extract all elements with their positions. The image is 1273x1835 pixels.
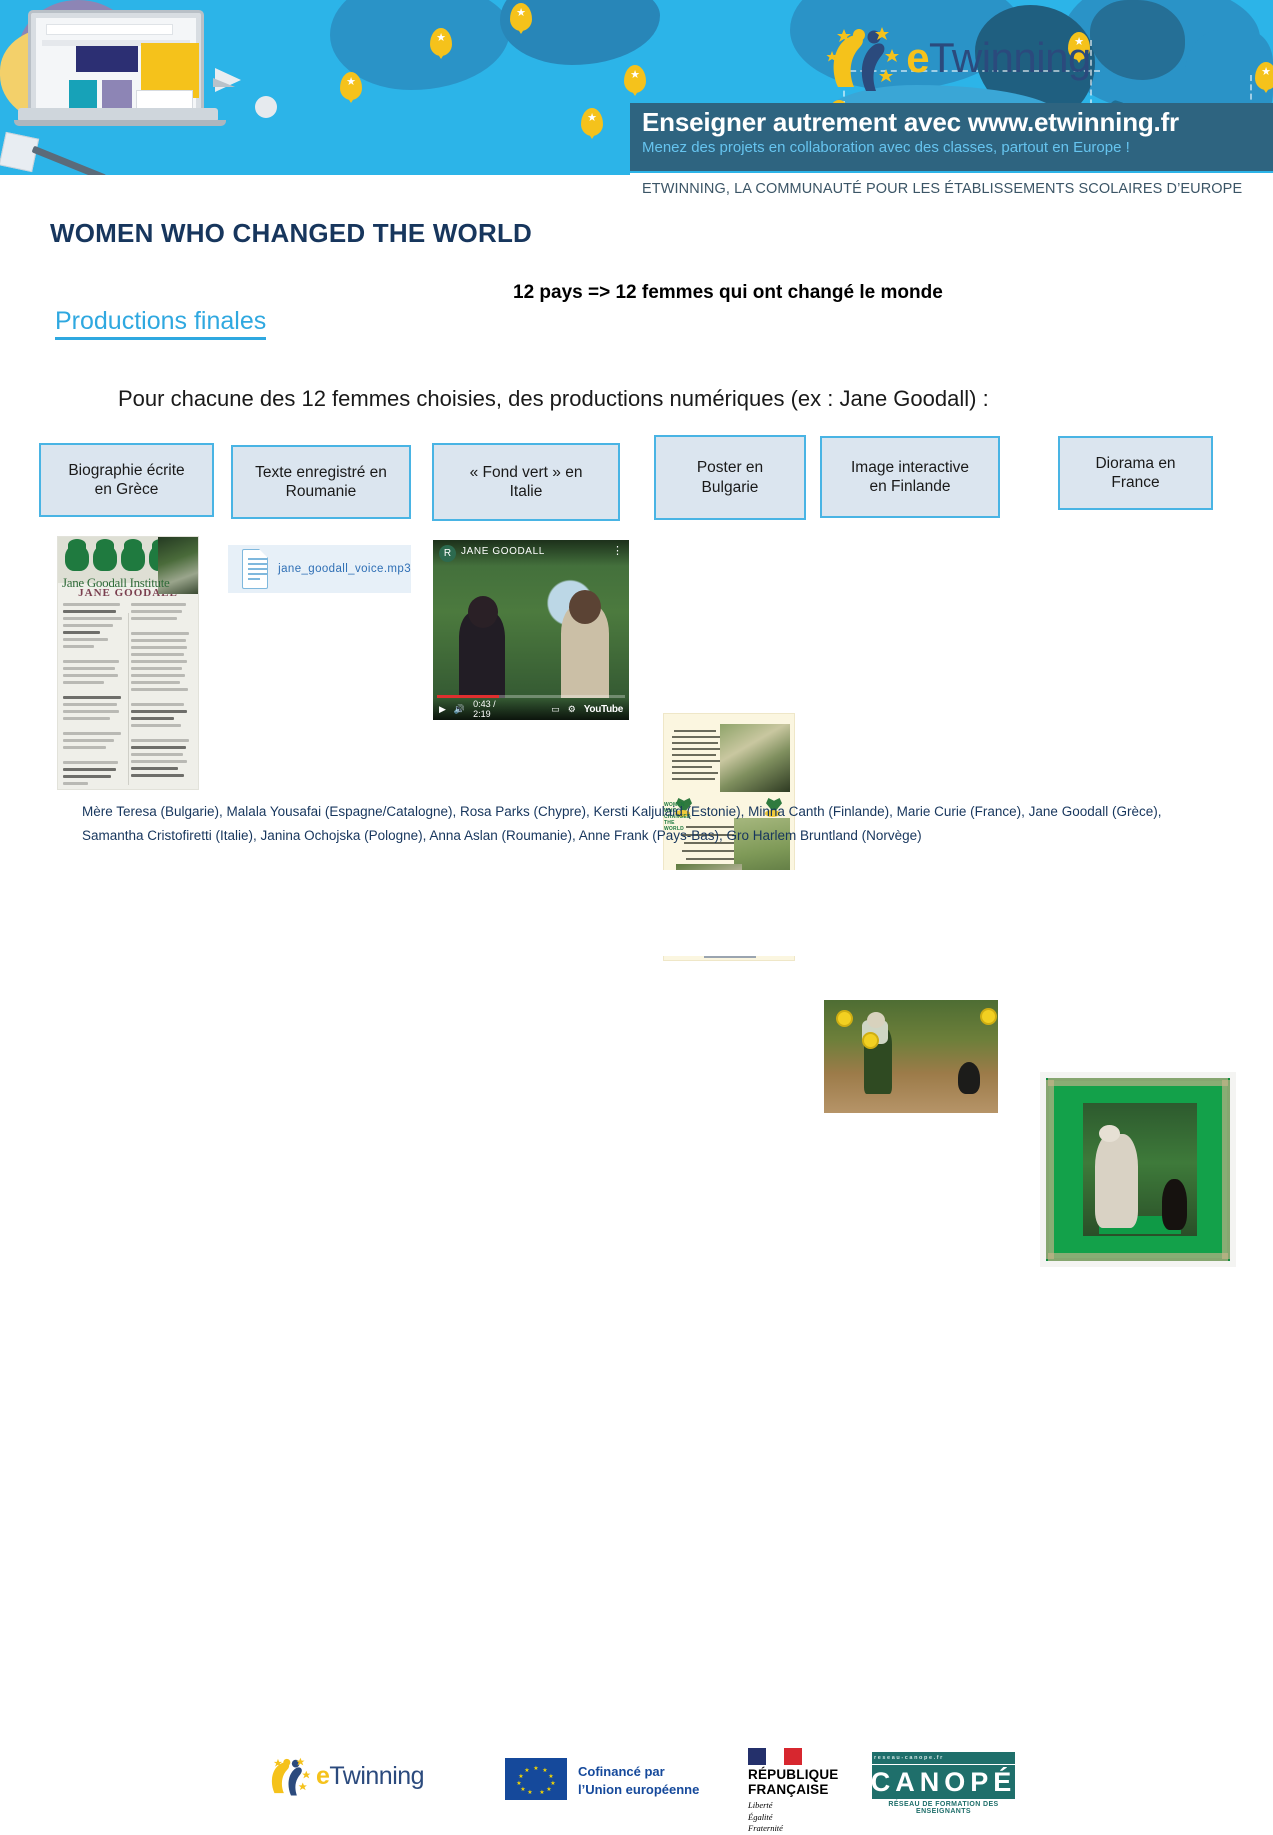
- poster-text-line: [672, 772, 718, 774]
- rf-motto: Liberté Égalité Fraternité: [748, 1800, 839, 1834]
- banner-headline: Enseigner autrement avec www.etwinning.f…: [630, 103, 1273, 138]
- production-label-romania: Texte enregistré en Roumanie: [255, 463, 387, 502]
- video-title: JANE GOODALL: [461, 546, 545, 557]
- production-label-france: Diorama en France: [1095, 454, 1175, 493]
- svg-text:★: ★: [546, 1786, 551, 1793]
- etwinning-wordmark-e-footer: e: [316, 1762, 329, 1790]
- slide-subtitle: 12 pays => 12 femmes qui ont changé le m…: [513, 282, 943, 304]
- diorama-tape-top: [1048, 1078, 1228, 1086]
- header-banner: Enseigner autrement avec www.etwinning.f…: [630, 103, 1273, 171]
- rf-line-1: RÉPUBLIQUE: [748, 1768, 839, 1783]
- production-box-france[interactable]: Diorama en France: [1058, 436, 1213, 510]
- production-label-bulgaria: Poster en Bulgarie: [697, 458, 763, 497]
- svg-text:★: ★: [516, 1780, 521, 1787]
- video-channel-avatar[interactable]: R: [439, 545, 456, 562]
- paper-plane-shadow: [213, 78, 235, 87]
- svg-text:★: ★: [533, 1765, 538, 1772]
- rf-line-2: FRANÇAISE: [748, 1783, 839, 1798]
- svg-text:★: ★: [548, 1773, 553, 1780]
- canope-url-bar: reseau-canope.fr: [872, 1752, 1015, 1764]
- poster-text-line: [672, 736, 720, 738]
- production-box-finland[interactable]: Image interactive en Finlande: [820, 436, 1000, 518]
- page-footer: eTwinning ★ ★ ★ ★ ★ ★ ★ ★ ★ ★ ★ Cofinanc…: [0, 870, 1273, 956]
- etwinning-mark-icon: [822, 21, 900, 95]
- diorama-tape-left: [1046, 1080, 1054, 1259]
- hotspot-marker-3[interactable]: [980, 1008, 997, 1025]
- poster-text-line: [674, 730, 716, 732]
- footer-etwinning-logo: eTwinning: [265, 1754, 424, 1798]
- poster-text-line: [672, 742, 718, 744]
- institute-name: Jane Goodall Institute: [62, 575, 170, 591]
- production-box-italy[interactable]: « Fond vert » en Italie: [432, 443, 620, 521]
- republique-francaise-logo: RÉPUBLIQUE FRANÇAISE Liberté Égalité Fra…: [748, 1748, 839, 1835]
- interactive-person-head: [867, 1012, 885, 1028]
- thumbnail-interactive-image[interactable]: [824, 1000, 998, 1113]
- interactive-chimpanzee: [958, 1062, 980, 1094]
- mock-address-bar: [46, 24, 173, 35]
- thumbnail-audio-file[interactable]: jane_goodall_voice.mp3: [228, 545, 411, 593]
- page-header: ★ ★ ★ ★ ★ ★ ★ ★: [0, 0, 1273, 205]
- banner-tagline: ETWINNING, LA COMMUNAUTÉ POUR LES ÉTABLI…: [630, 173, 1273, 205]
- svg-text:★: ★: [524, 1767, 529, 1774]
- svg-text:★: ★: [539, 1789, 544, 1796]
- etwinning-wordmark-rest-footer: Twinning: [329, 1762, 424, 1790]
- more-options-icon[interactable]: ⋮: [612, 546, 623, 556]
- eu-flag-icon: ★ ★ ★ ★ ★ ★ ★ ★ ★ ★ ★: [505, 1758, 567, 1800]
- diorama-tape-bottom: [1048, 1253, 1228, 1261]
- map-pin-3: ★: [340, 72, 362, 100]
- poster-text-line: [672, 748, 722, 750]
- women-names-line-1: Mère Teresa (Bulgarie), Malala Yousafai …: [82, 800, 1232, 824]
- file-document-icon: [242, 549, 268, 589]
- hotspot-marker-2[interactable]: [862, 1032, 879, 1049]
- youtube-brand[interactable]: YouTube: [584, 704, 623, 715]
- women-names-line-2: Samantha Cristofiretti (Italie), Janina …: [82, 824, 1232, 848]
- poster-photo-top: [720, 724, 790, 792]
- ape-hand-icon-2: [93, 545, 117, 571]
- settings-gear-icon[interactable]: ⚙: [568, 704, 576, 715]
- svg-text:★: ★: [542, 1767, 547, 1774]
- eu-funding-text: Cofinancé par l’Union européenne: [578, 1763, 699, 1798]
- diorama-figure-jane: [1095, 1134, 1138, 1228]
- thumbnail-diorama[interactable]: [1040, 1072, 1236, 1267]
- audio-filename: jane_goodall_voice.mp3: [278, 563, 411, 575]
- page-title: WOMEN WHO CHANGED THE WORLD: [50, 218, 532, 249]
- thumbnail-video-player[interactable]: R JANE GOODALL ⋮ ▶ 🔊 0:43 / 2:19 ▭ ⚙ You…: [433, 540, 629, 720]
- canope-wordmark: CANOPÉ: [872, 1765, 1015, 1799]
- canope-tagline: RÉSEAU DE FORMATION DES ENSEIGNANTS: [872, 1801, 1015, 1815]
- diorama-tape-right: [1222, 1080, 1230, 1259]
- rf-motto-egalite: Égalité: [748, 1812, 839, 1823]
- etwinning-wordmark: eTwinning: [906, 34, 1091, 82]
- mock-card-navy: [76, 46, 138, 72]
- production-box-bulgaria[interactable]: Poster en Bulgarie: [654, 435, 806, 520]
- document-column-divider: [128, 613, 129, 785]
- banner-subheadline: Menez des projets en collaboration avec …: [630, 138, 1273, 156]
- poster-text-line: [672, 760, 720, 762]
- etwinning-wordmark-rest: Twinning: [929, 34, 1091, 81]
- video-child-right-head: [569, 590, 601, 624]
- production-box-romania[interactable]: Texte enregistré en Roumanie: [231, 445, 411, 519]
- video-timestamp: 0:43 / 2:19: [473, 699, 509, 719]
- rf-motto-fraternite: Fraternité: [748, 1823, 839, 1834]
- laptop-base-edge: [14, 120, 226, 126]
- map-pin-4: ★: [430, 28, 452, 56]
- production-label-italy: « Fond vert » en Italie: [470, 463, 583, 502]
- etwinning-mark-icon-footer: [265, 1754, 311, 1798]
- play-icon[interactable]: ▶: [439, 704, 446, 715]
- document-column-left: [63, 603, 125, 789]
- document-column-right: [131, 603, 193, 789]
- canope-url: reseau-canope.fr: [874, 1755, 944, 1761]
- eu-funding-line-2: l’Union européenne: [578, 1781, 699, 1799]
- video-controls-bar[interactable]: ▶ 🔊 0:43 / 2:19 ▭ ⚙ YouTube: [433, 698, 629, 720]
- svg-text:★: ★: [527, 1789, 532, 1796]
- etwinning-wordmark-footer: eTwinning: [316, 1762, 424, 1791]
- women-names-list: Mère Teresa (Bulgarie), Malala Yousafai …: [82, 800, 1232, 847]
- diorama-figure-chimpanzee: [1162, 1179, 1187, 1230]
- thumbnail-biography-document[interactable]: Jane Goodall Institute JANE GOODALL: [57, 536, 199, 790]
- section-link-productions-finales[interactable]: Productions finales: [55, 307, 266, 340]
- svg-text:★: ★: [550, 1780, 555, 1787]
- video-child-left-head: [468, 596, 498, 628]
- french-flag-icon: [748, 1748, 802, 1765]
- rf-motto-liberte: Liberté: [748, 1800, 839, 1811]
- map-pin-1: ★: [510, 3, 532, 31]
- subtitles-icon[interactable]: ▭: [551, 704, 560, 715]
- poster-text-line: [672, 754, 716, 756]
- ape-hand-icon-1: [65, 545, 89, 571]
- laptop-screen-frame: [28, 10, 204, 116]
- map-pin-7: ★: [581, 108, 603, 136]
- production-box-greece[interactable]: Biographie écrite en Grèce: [39, 443, 214, 517]
- document-header-logo: Jane Goodall Institute: [58, 537, 198, 583]
- poster-text-line: [672, 766, 712, 768]
- intro-text: Pour chacune des 12 femmes choisies, des…: [118, 386, 989, 412]
- laptop-screen: [36, 18, 196, 108]
- volume-icon[interactable]: 🔊: [454, 704, 465, 715]
- production-label-finland: Image interactive en Finlande: [851, 458, 969, 497]
- production-label-greece: Biographie écrite en Grèce: [68, 461, 184, 500]
- svg-text:★: ★: [520, 1786, 525, 1793]
- hotspot-marker-1[interactable]: [836, 1010, 853, 1027]
- canope-logo: reseau-canope.fr CANOPÉ RÉSEAU DE FORMAT…: [872, 1752, 1015, 1815]
- svg-text:★: ★: [518, 1773, 523, 1780]
- decorative-sphere: [255, 96, 277, 118]
- eu-funding-line-1: Cofinancé par: [578, 1763, 699, 1781]
- poster-text-line: [672, 778, 715, 780]
- etwinning-wordmark-e: e: [906, 34, 929, 81]
- ape-hand-icon-3: [121, 545, 145, 571]
- etwinning-logo-header: eTwinning: [640, 8, 1273, 108]
